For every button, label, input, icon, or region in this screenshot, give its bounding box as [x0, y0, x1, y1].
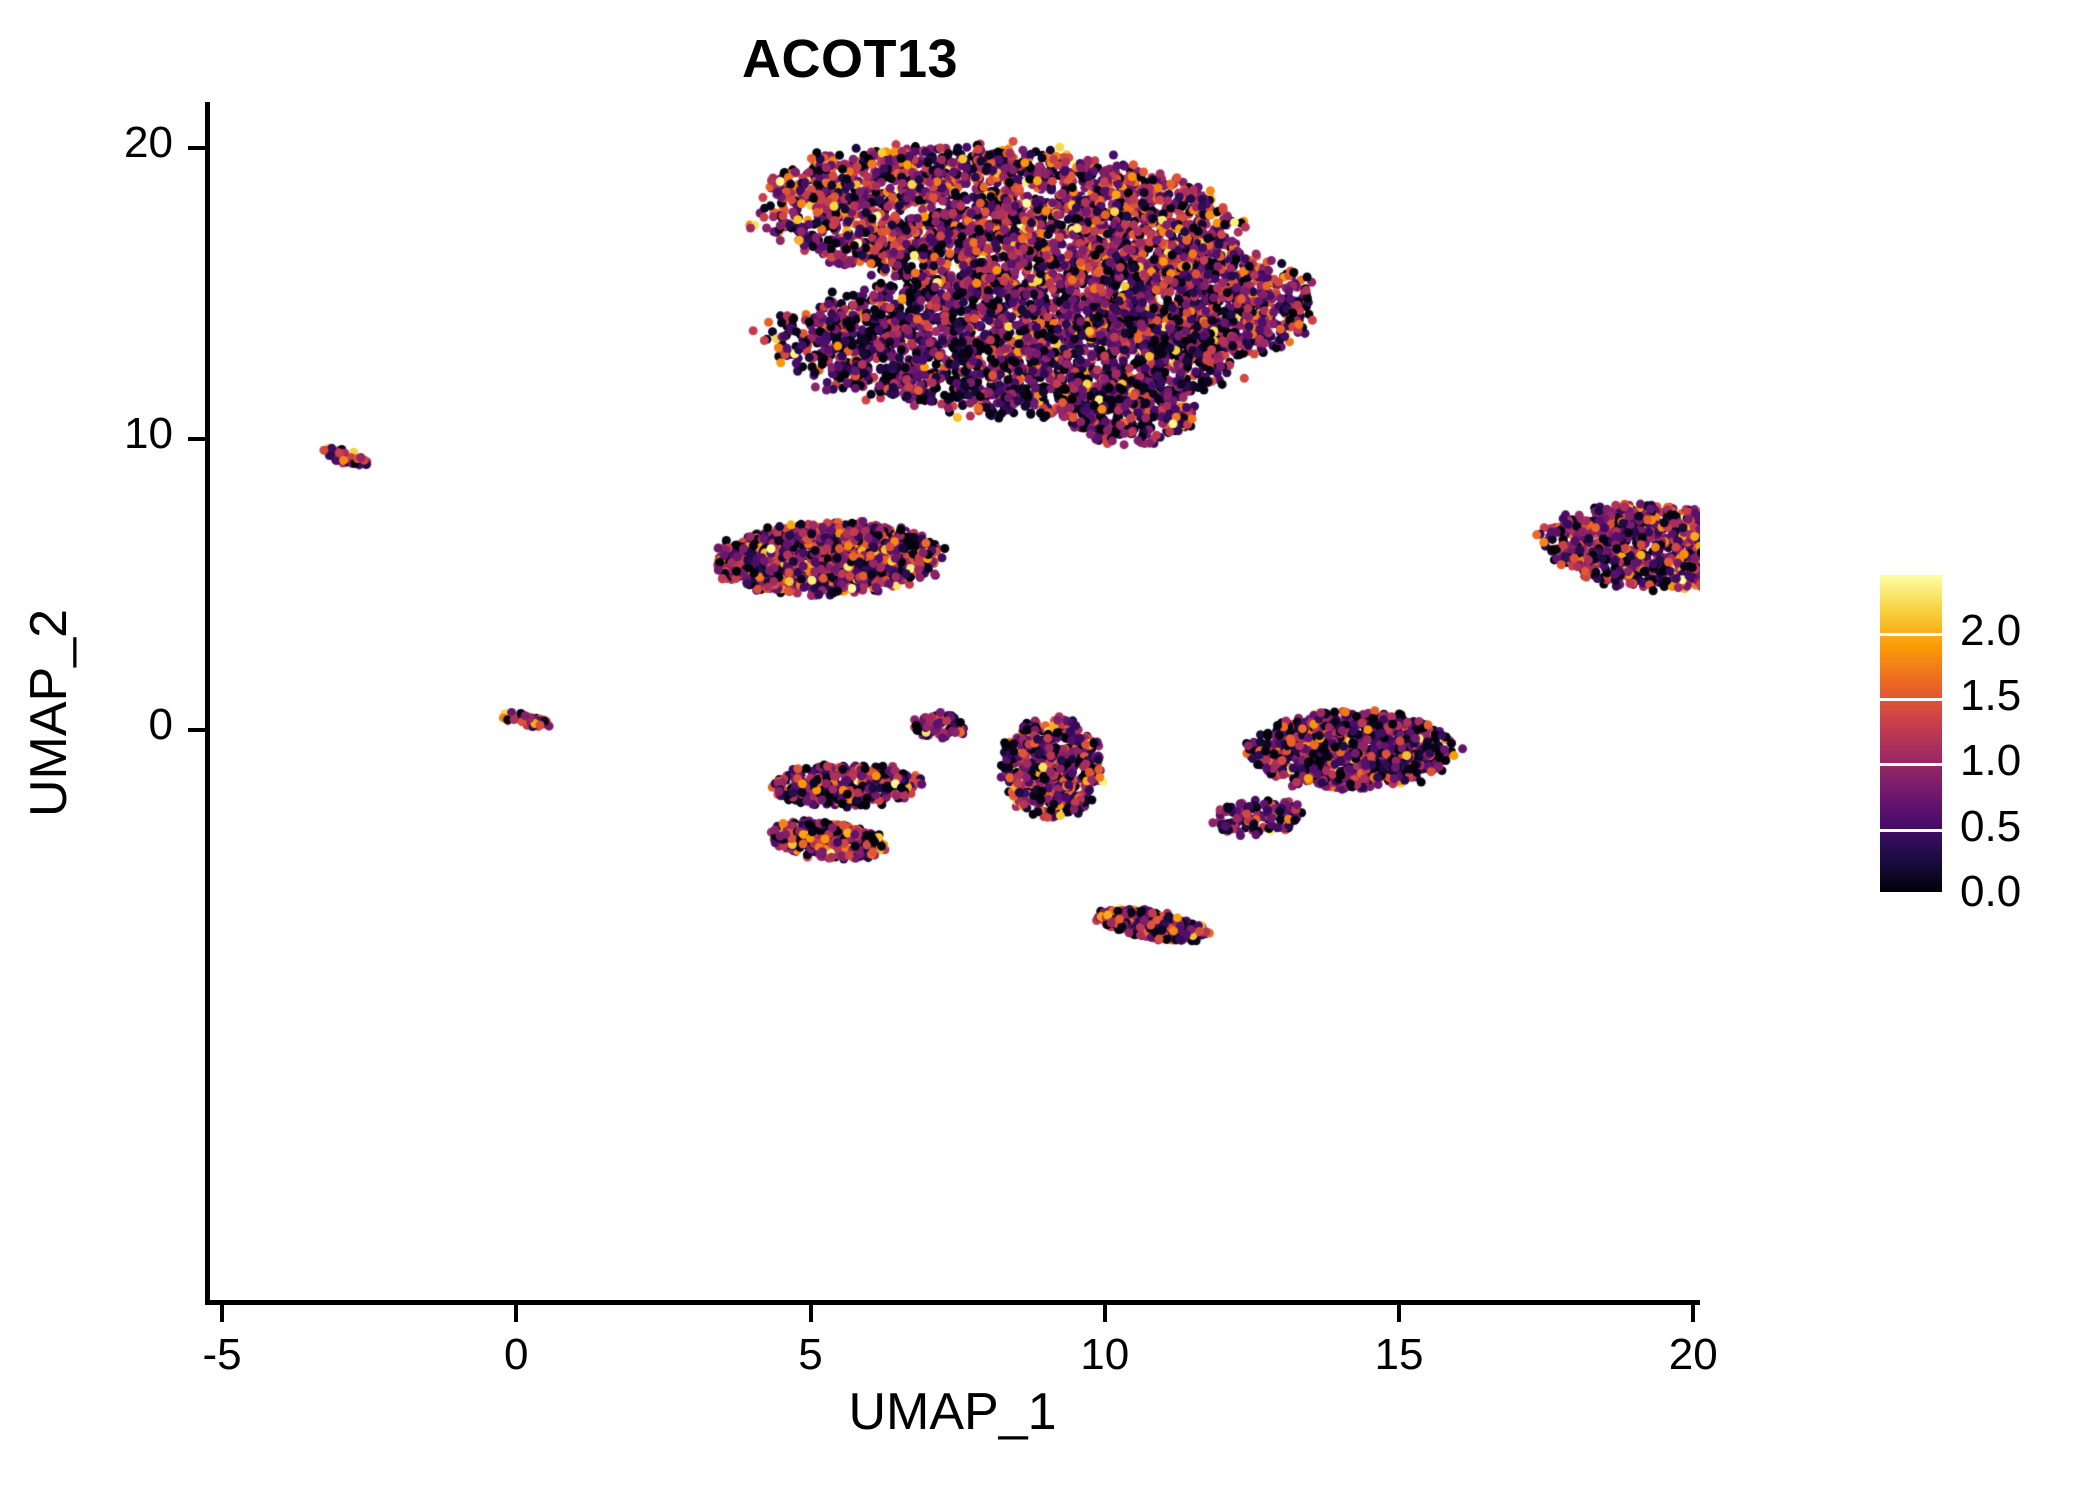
colorbar-tick-mark	[1880, 633, 1942, 636]
colorbar-gradient	[1880, 575, 1942, 895]
colorbar-tick-label: 1.0	[1960, 736, 2021, 786]
x-tick-label: 0	[446, 1330, 586, 1380]
colorbar-tick-mark	[1880, 763, 1942, 766]
x-tick-mark	[809, 1305, 813, 1322]
x-tick-label: 15	[1329, 1330, 1469, 1380]
y-tick-mark	[188, 146, 205, 150]
page-title: ACOT13	[0, 28, 1700, 90]
colorbar-tick-label: 1.5	[1960, 671, 2021, 721]
colorbar-tick-mark	[1880, 892, 1942, 895]
x-tick-mark	[514, 1305, 518, 1322]
x-tick-label: -5	[152, 1330, 292, 1380]
x-tick-label: 20	[1623, 1330, 1763, 1380]
umap-feature-plot: ACOT13 -505101520 01020 UMAP_1 UMAP_2 2.…	[0, 0, 2100, 1500]
x-axis-title: UMAP_1	[205, 1382, 1700, 1442]
x-tick-mark	[1397, 1305, 1401, 1322]
plot-panel[interactable]	[205, 102, 1700, 1302]
y-axis-line	[205, 102, 210, 1305]
colorbar-tick-label: 2.0	[1960, 606, 2021, 656]
x-axis-line	[205, 1300, 1700, 1305]
x-tick-mark	[1691, 1305, 1695, 1322]
colorbar-tick-label: 0.0	[1960, 867, 2021, 917]
y-tick-mark	[188, 728, 205, 732]
colorbar-tick-label: 0.5	[1960, 802, 2021, 852]
scatter-canvas[interactable]	[205, 102, 1700, 1302]
colorbar-tick-mark	[1880, 698, 1942, 701]
colorbar-tick-mark	[1880, 829, 1942, 832]
colorbar-legend: 2.01.51.00.50.0	[1880, 575, 2080, 905]
x-tick-label: 10	[1035, 1330, 1175, 1380]
x-tick-mark	[1103, 1305, 1107, 1322]
x-tick-mark	[220, 1305, 224, 1322]
x-tick-label: 5	[741, 1330, 881, 1380]
y-axis-title: UMAP_2	[19, 113, 79, 1313]
y-tick-mark	[188, 437, 205, 441]
